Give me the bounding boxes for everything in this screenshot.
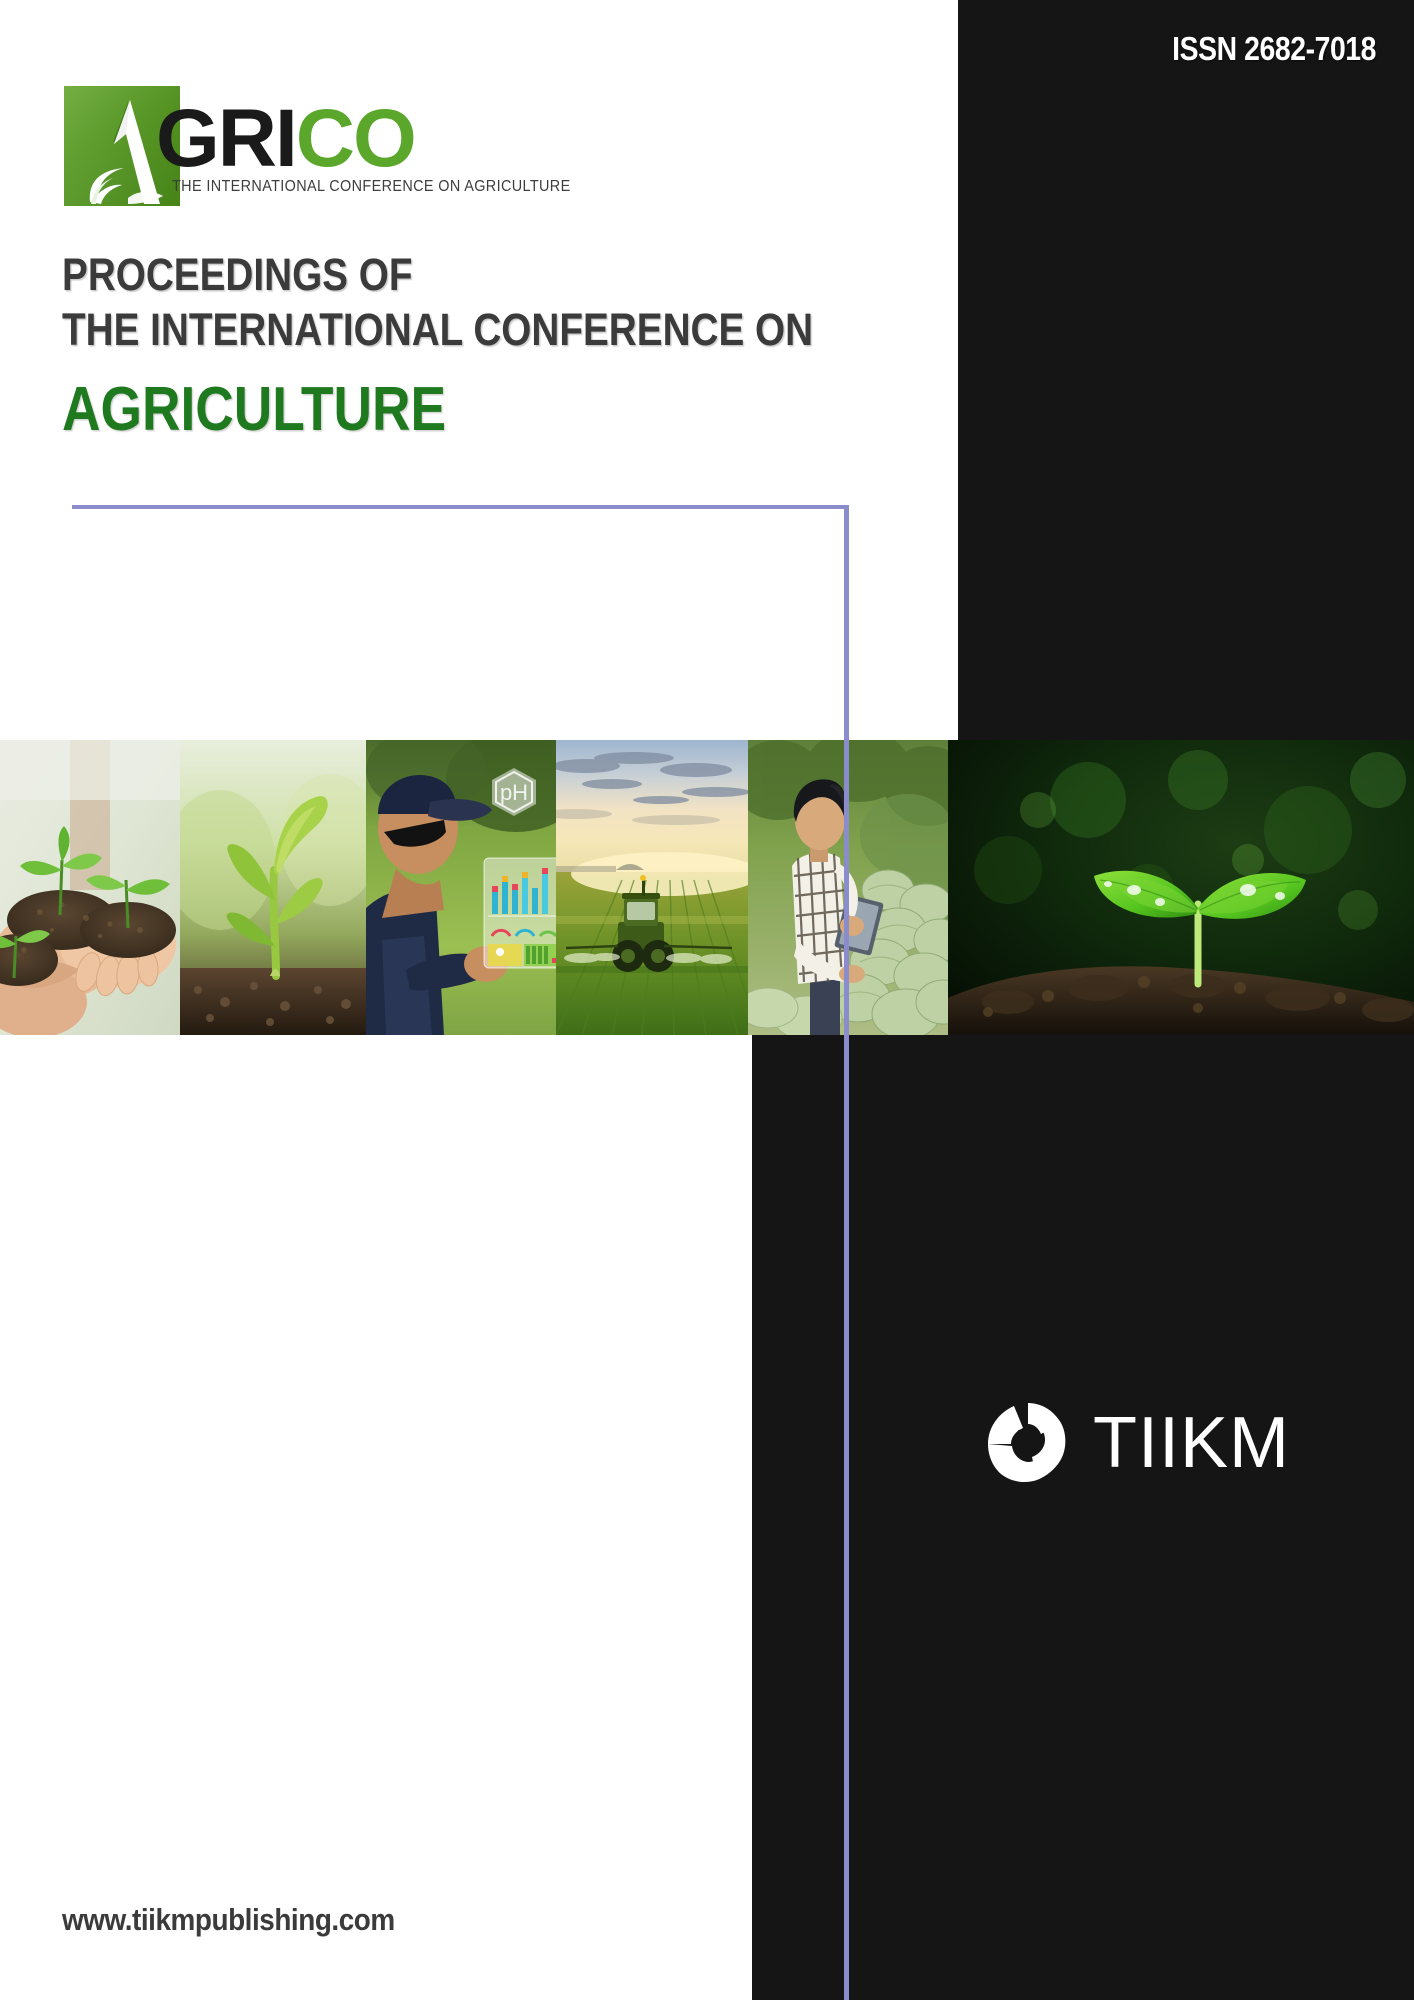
tiikm-wordmark: TIIKM bbox=[1093, 1407, 1290, 1479]
photo-strip: pH bbox=[0, 740, 1414, 1035]
title-line-1: PROCEEDINGS OF bbox=[62, 247, 813, 302]
pinwheel-globe-icon bbox=[985, 1400, 1071, 1486]
logo-word-co: CO bbox=[296, 93, 415, 184]
title-main-agriculture: AGRICULTURE bbox=[62, 375, 813, 445]
cover-title-block: PROCEEDINGS OF THE INTERNATIONAL CONFERE… bbox=[62, 247, 935, 445]
svg-text:pH: pH bbox=[500, 780, 528, 805]
vertical-rule bbox=[844, 505, 849, 2000]
issn-text: ISSN 2682-7018 bbox=[1172, 30, 1376, 68]
photo-tractor-spraying-field-sunset bbox=[556, 740, 748, 1035]
title-line-2: THE INTERNATIONAL CONFERENCE ON bbox=[62, 302, 813, 357]
logo-word-gri: GRI bbox=[156, 93, 296, 184]
photo-farmer-with-ph-data-tablet: pH bbox=[366, 740, 556, 1035]
logo-tagline: THE INTERNATIONAL CONFERENCE ON AGRICULT… bbox=[172, 178, 571, 196]
website-url: www.tiikmpublishing.com bbox=[62, 1902, 395, 1938]
photo-corn-seedling-sprout bbox=[180, 740, 366, 1035]
agrico-wordmark: GRICO bbox=[156, 98, 415, 180]
journal-cover-page: ISSN 2682-7018 GRICO THE INTERNATIONAL C… bbox=[0, 0, 1414, 2000]
horizontal-rule bbox=[72, 505, 848, 509]
photo-young-sprout-in-dark-soil bbox=[948, 740, 1414, 1035]
black-panel-bottom bbox=[752, 1035, 1414, 2000]
photo-hands-holding-soil-seedling bbox=[0, 740, 180, 1035]
tiikm-publisher-logo: TIIKM bbox=[985, 1400, 1290, 1486]
